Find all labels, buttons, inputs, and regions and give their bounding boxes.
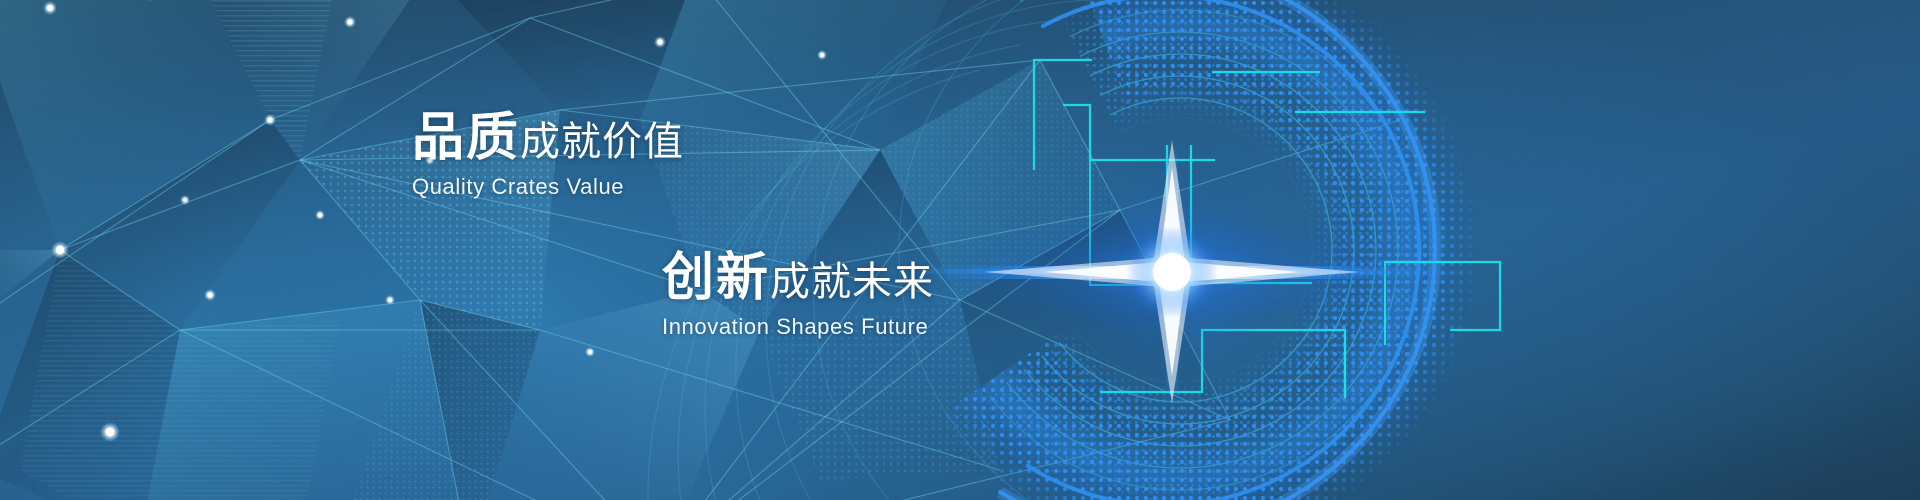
- slogan-innovation-subline: Innovation Shapes Future: [662, 314, 934, 340]
- slogan-innovation: 创新成就未来 Innovation Shapes Future: [662, 252, 934, 340]
- slogan-innovation-headline-light: 成就未来: [770, 260, 934, 304]
- slogan-innovation-headline: 创新成就未来: [662, 252, 934, 304]
- slogan-quality: 品质成就价值 Quality Crates Value: [412, 112, 684, 200]
- hero-banner: 品质成就价值 Quality Crates Value 创新成就未来 Innov…: [0, 0, 1920, 500]
- vignette: [0, 0, 1920, 500]
- slogan-quality-headline-strong: 品质: [412, 109, 520, 167]
- slogan-quality-headline-light: 成就价值: [520, 120, 684, 164]
- slogan-innovation-headline-strong: 创新: [662, 249, 770, 307]
- slogan-quality-subline: Quality Crates Value: [412, 174, 684, 200]
- slogan-quality-headline: 品质成就价值: [412, 112, 684, 164]
